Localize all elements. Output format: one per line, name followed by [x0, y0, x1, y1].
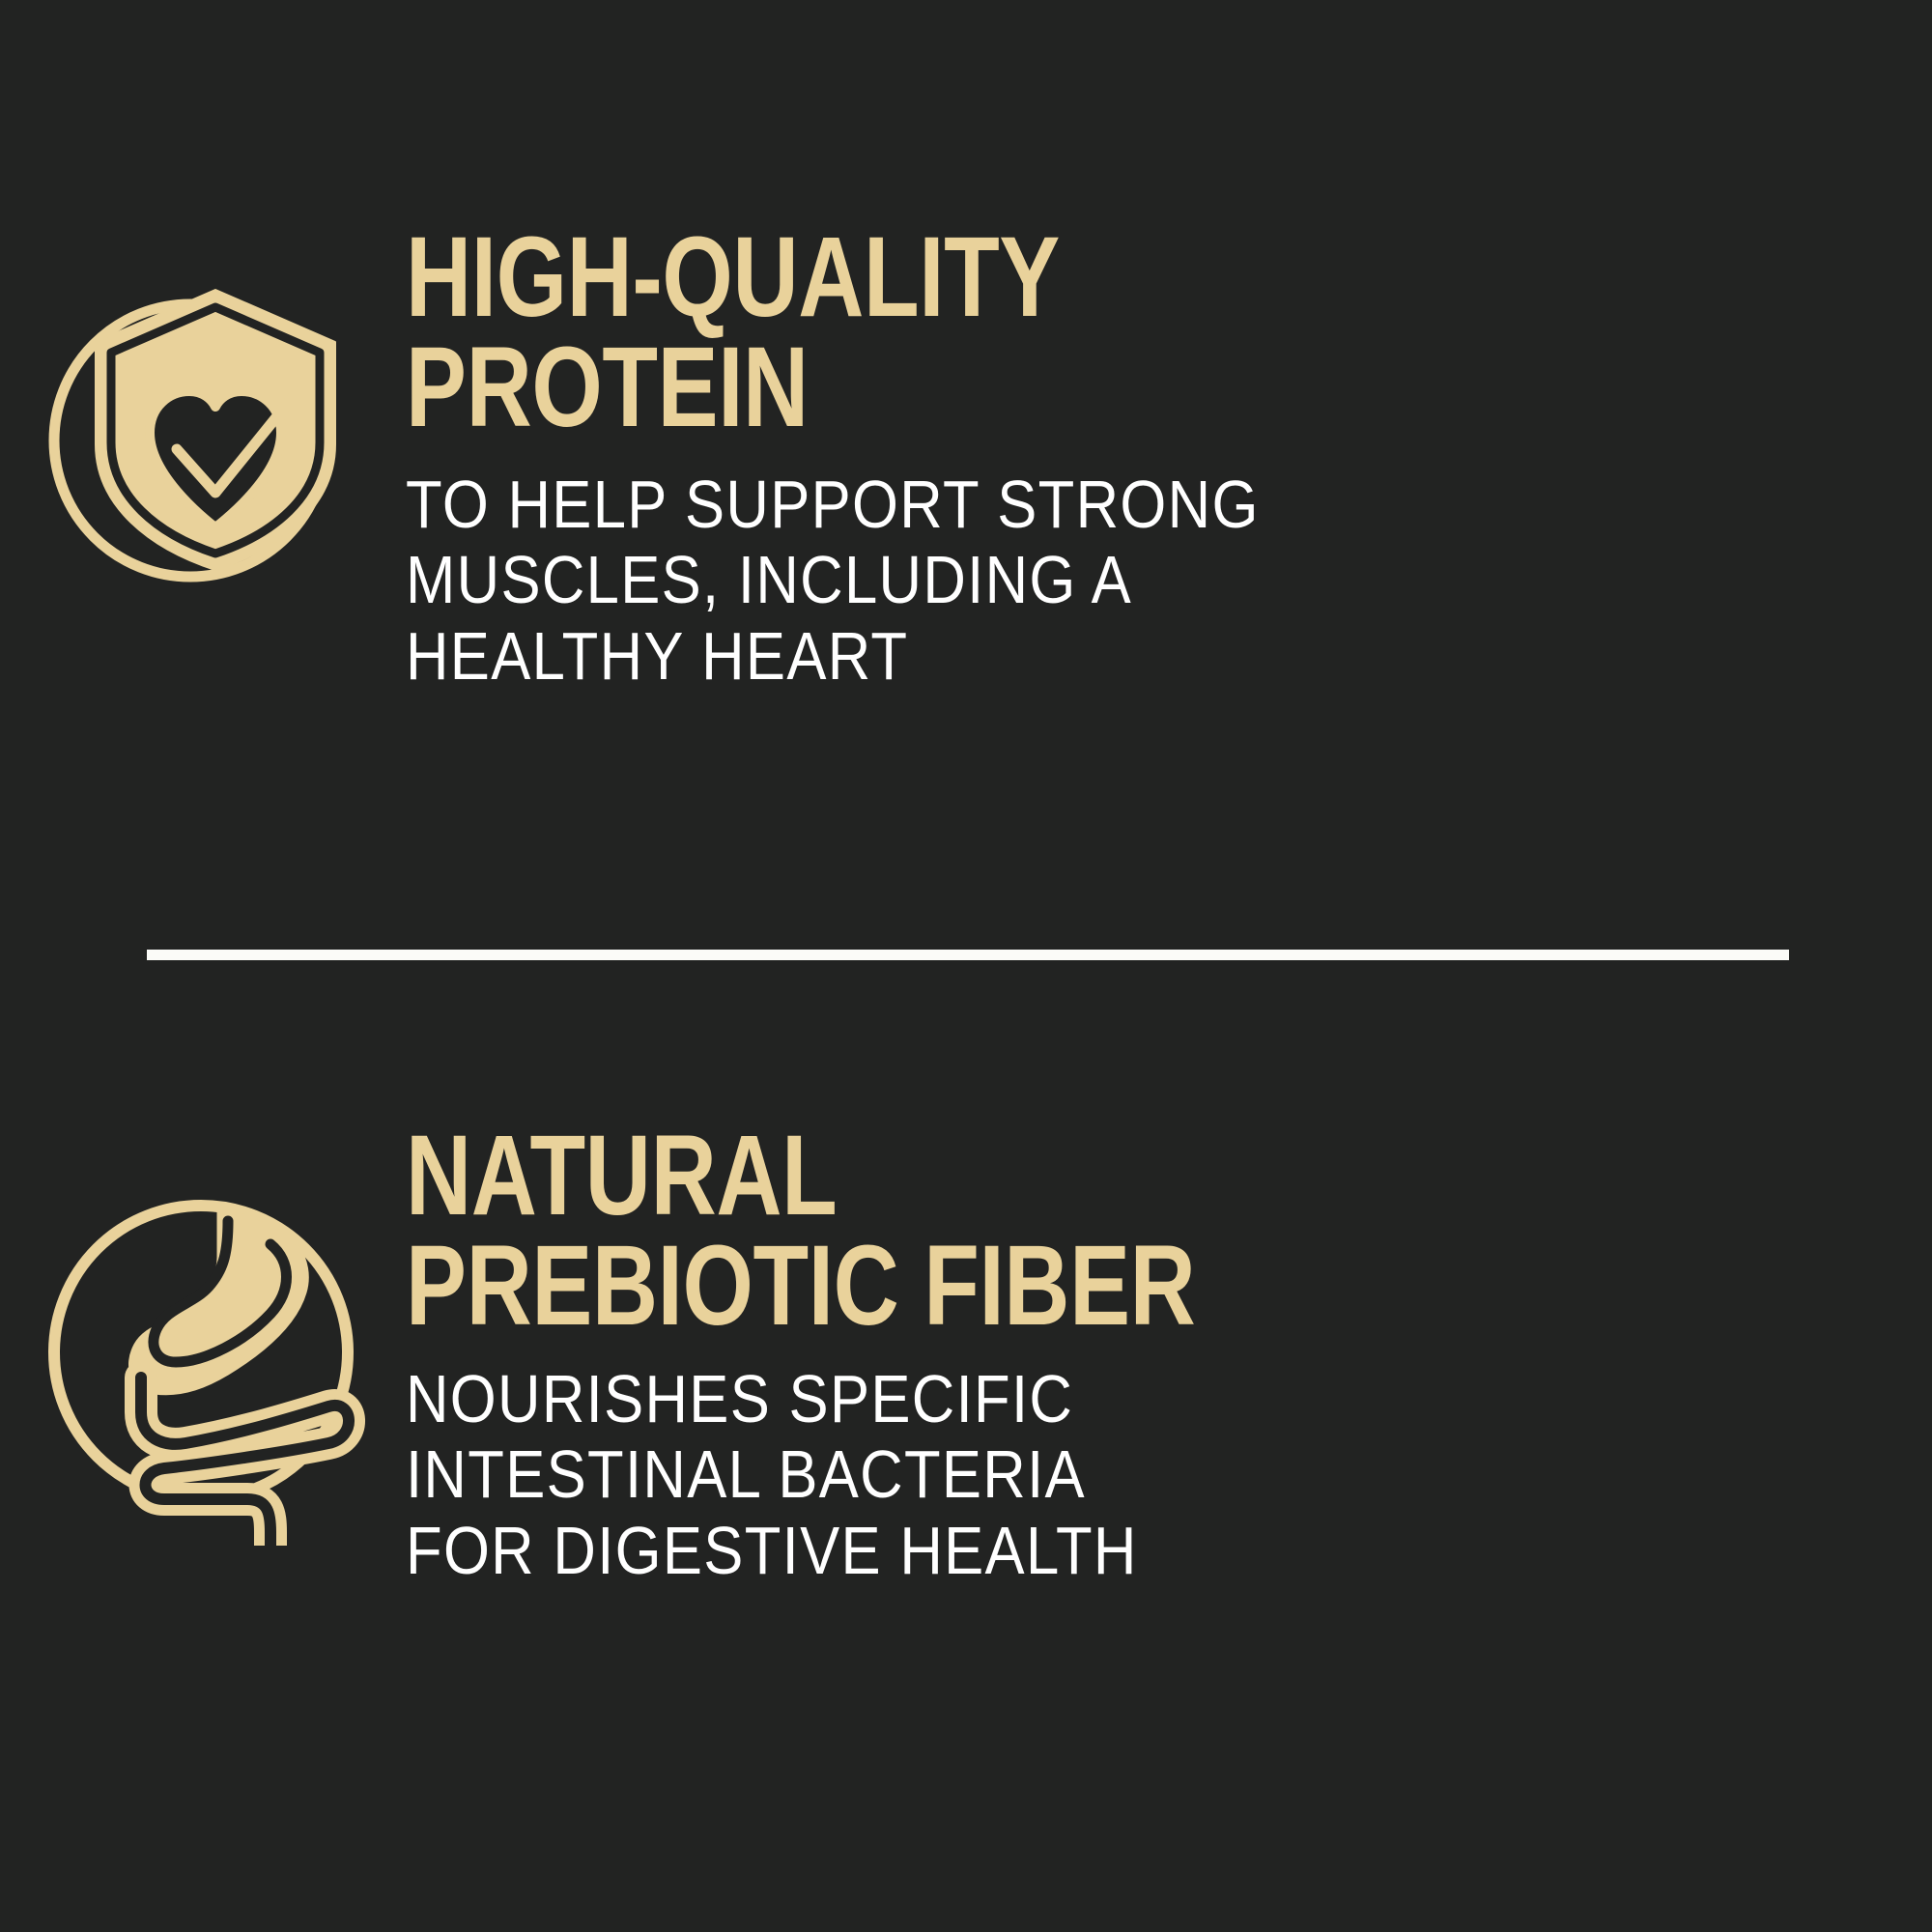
benefit-body-fiber: NOURISHES SPECIFIC INTESTINAL BACTERIA F… [406, 1361, 1748, 1588]
body-line: MUSCLES, INCLUDING A [406, 542, 1748, 617]
body-line: HEALTHY HEART [406, 618, 1748, 694]
benefit-icon-container-fiber [0, 1121, 406, 1546]
body-line: INTESTINAL BACTERIA [406, 1436, 1748, 1512]
section-divider [147, 950, 1789, 960]
body-line: TO HELP SUPPORT STRONG [406, 467, 1748, 542]
benefit-icon-container-protein [0, 222, 406, 587]
body-line: FOR DIGESTIVE HEALTH [406, 1513, 1748, 1588]
benefit-headline-protein: HIGH-QUALITY PROTEIN [406, 222, 1627, 443]
benefit-text-fiber: NATURAL PREBIOTIC FIBER NOURISHES SPECIF… [406, 1121, 1932, 1588]
body-line: NOURISHES SPECIFIC [406, 1361, 1748, 1436]
headline-line: PREBIOTIC FIBER [406, 1231, 1627, 1341]
headline-line: HIGH-QUALITY [406, 222, 1627, 332]
benefit-text-protein: HIGH-QUALITY PROTEIN TO HELP SUPPORT STR… [406, 222, 1932, 694]
benefit-body-protein: TO HELP SUPPORT STRONG MUSCLES, INCLUDIN… [406, 467, 1748, 694]
benefit-headline-fiber: NATURAL PREBIOTIC FIBER [406, 1121, 1627, 1342]
headline-line: NATURAL [406, 1121, 1627, 1231]
headline-line: PROTEIN [406, 332, 1627, 442]
benefit-block-protein: HIGH-QUALITY PROTEIN TO HELP SUPPORT STR… [0, 222, 1932, 694]
stomach-intestine-digestive-icon [39, 1188, 367, 1546]
benefit-block-fiber: NATURAL PREBIOTIC FIBER NOURISHES SPECIF… [0, 1121, 1932, 1588]
benefits-infographic: HIGH-QUALITY PROTEIN TO HELP SUPPORT STR… [0, 0, 1932, 1932]
shield-heart-check-icon [43, 269, 362, 587]
